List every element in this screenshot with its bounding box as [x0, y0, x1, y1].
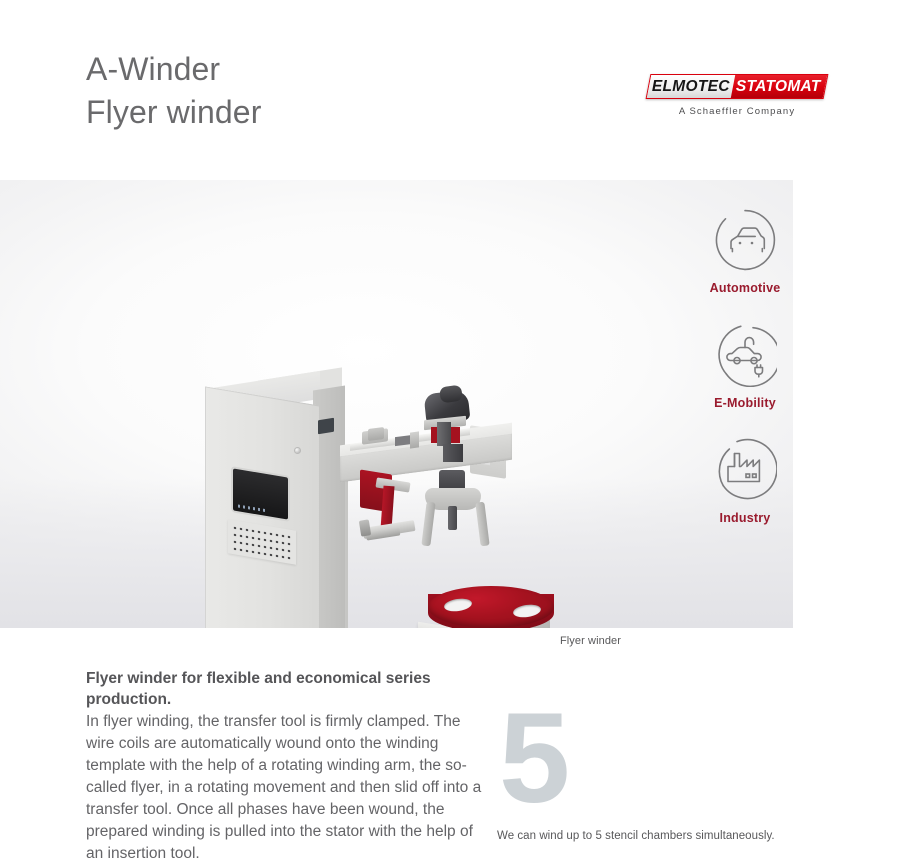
factory-icon [713, 438, 777, 502]
winding-head-post [437, 422, 451, 446]
industry-item-industry[interactable]: Industry [690, 438, 800, 525]
beam-post [410, 431, 419, 448]
cabinet-screw [295, 448, 300, 453]
winding-head-red-block [450, 427, 460, 443]
page-title: A-Winder Flyer winder [86, 48, 261, 134]
description-lead: Flyer winder for flexible and economical… [86, 668, 486, 710]
industry-label: Automotive [690, 281, 800, 295]
hmi-screen [233, 468, 288, 519]
electric-car-plug-icon [713, 323, 777, 387]
gripper-center-pin [448, 506, 457, 530]
company-logo: ELMOTEC STATOMAT A Schaeffler Company [648, 74, 828, 117]
page-title-line-1: A-Winder [86, 48, 261, 91]
highlight-stat: 5 We can wind up to 5 stencil chambers s… [497, 700, 827, 842]
logo-word-statomat: STATOMAT [736, 78, 821, 96]
logo-bar: ELMOTEC STATOMAT [646, 74, 829, 99]
industry-item-automotive[interactable]: Automotive [690, 208, 800, 295]
car-front-icon [713, 208, 777, 272]
logo-word-elmotec: ELMOTEC [652, 78, 730, 96]
logo-right-panel: STATOMAT [730, 75, 827, 98]
product-image [0, 180, 793, 628]
description-block: Flyer winder for flexible and economical… [86, 668, 486, 865]
stat-caption: We can wind up to 5 stencil chambers sim… [497, 830, 827, 842]
beam-actuator [368, 427, 384, 441]
logo-tagline: A Schaeffler Company [648, 106, 826, 117]
winding-head-stem [443, 444, 463, 462]
industry-list: Automotive E-Mobility [690, 208, 800, 553]
logo-left-panel: ELMOTEC [647, 75, 735, 98]
product-image-caption: Flyer winder [463, 635, 718, 647]
description-paragraph: In flyer winding, the transfer tool is f… [86, 711, 486, 865]
page-header: A-Winder Flyer winder ELMOTEC STATOMAT A… [0, 0, 906, 180]
image-floor-gradient [0, 478, 793, 628]
industry-label: E-Mobility [690, 396, 800, 410]
industry-label: Industry [690, 511, 800, 525]
cabinet-latch [318, 418, 334, 435]
stat-number: 5 [499, 700, 827, 818]
page-title-line-2: Flyer winder [86, 91, 261, 134]
industry-item-e-mobility[interactable]: E-Mobility [690, 323, 800, 410]
